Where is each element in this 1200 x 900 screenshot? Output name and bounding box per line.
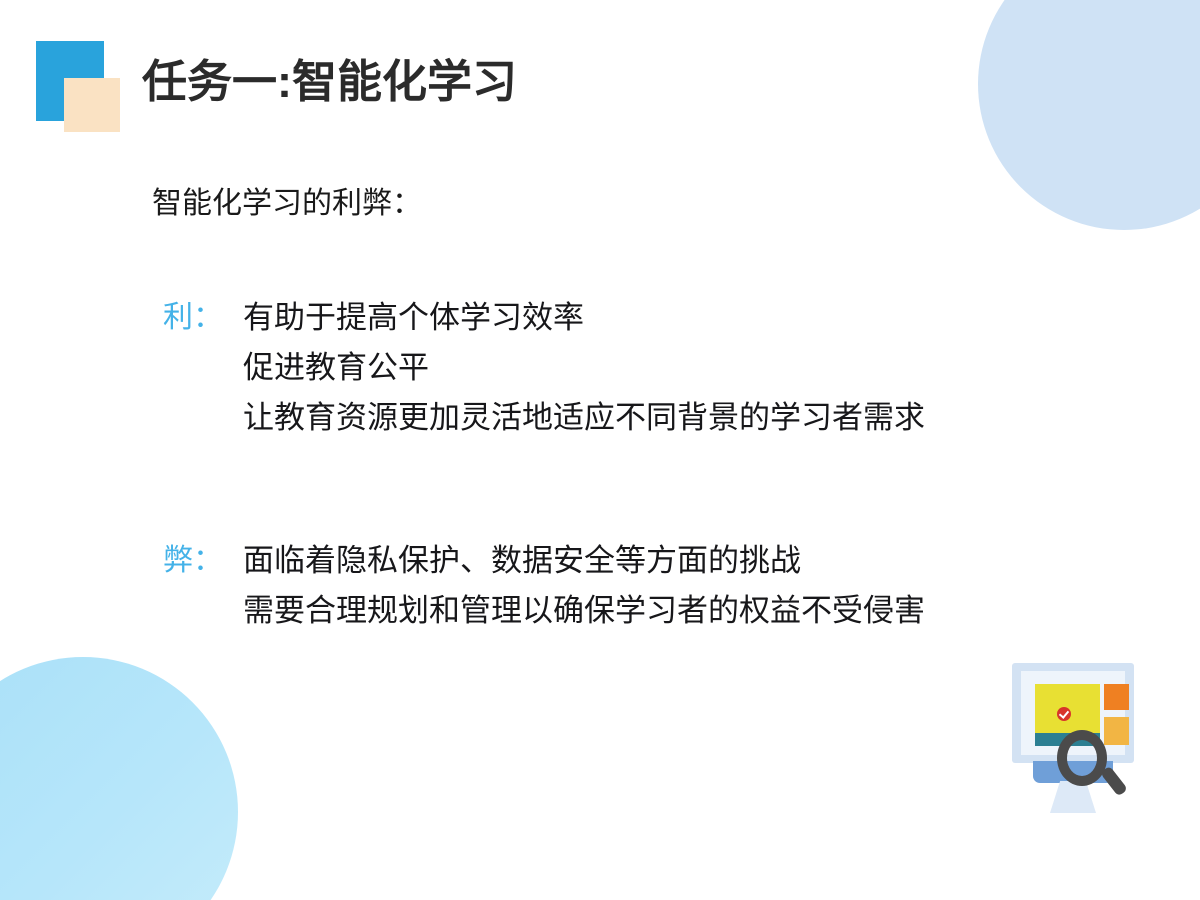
cons-line-1: 面临着隐私保护、数据安全等方面的挑战	[243, 536, 925, 586]
decor-circle-top-right	[978, 0, 1200, 230]
pros-line-2: 促进教育公平	[243, 343, 925, 393]
slide-canvas: 任务一:智能化学习 智能化学习的利弊： 利： 有助于提高个体学习效率 促进教育公…	[0, 0, 1200, 900]
monitor-magnifier-illustration	[1012, 663, 1152, 823]
decor-circle-bottom-left	[0, 657, 238, 900]
cons-line-2: 需要合理规划和管理以确保学习者的权益不受侵害	[243, 586, 925, 636]
monitor-stand	[1050, 781, 1096, 813]
pros-first-row: 利： 有助于提高个体学习效率 促进教育公平 让教育资源更加灵活地适应不同背景的学…	[163, 293, 925, 443]
title-decoration	[36, 41, 156, 141]
pros-line-3: 让教育资源更加灵活地适应不同背景的学习者需求	[243, 393, 925, 443]
cons-lines: 面临着隐私保护、数据安全等方面的挑战 需要合理规划和管理以确保学习者的权益不受侵…	[243, 536, 925, 636]
page-title: 任务一:智能化学习	[142, 56, 517, 108]
pros-line-1: 有助于提高个体学习效率	[243, 293, 925, 343]
check-circle-icon	[1057, 707, 1071, 721]
cons-label: 弊：	[163, 536, 243, 586]
cons-first-row: 弊： 面临着隐私保护、数据安全等方面的挑战 需要合理规划和管理以确保学习者的权益…	[163, 536, 925, 636]
screen-orange-block	[1104, 684, 1129, 710]
pros-label: 利：	[163, 293, 243, 343]
magnifier-lens-icon	[1057, 730, 1107, 786]
pros-section: 利： 有助于提高个体学习效率 促进教育公平 让教育资源更加灵活地适应不同背景的学…	[163, 293, 925, 443]
title-square-peach-icon	[64, 78, 120, 132]
cons-section: 弊： 面临着隐私保护、数据安全等方面的挑战 需要合理规划和管理以确保学习者的权益…	[163, 536, 925, 636]
pros-lines: 有助于提高个体学习效率 促进教育公平 让教育资源更加灵活地适应不同背景的学习者需…	[243, 293, 925, 443]
screen-amber-block	[1104, 717, 1129, 745]
intro-text: 智能化学习的利弊：	[152, 186, 422, 222]
